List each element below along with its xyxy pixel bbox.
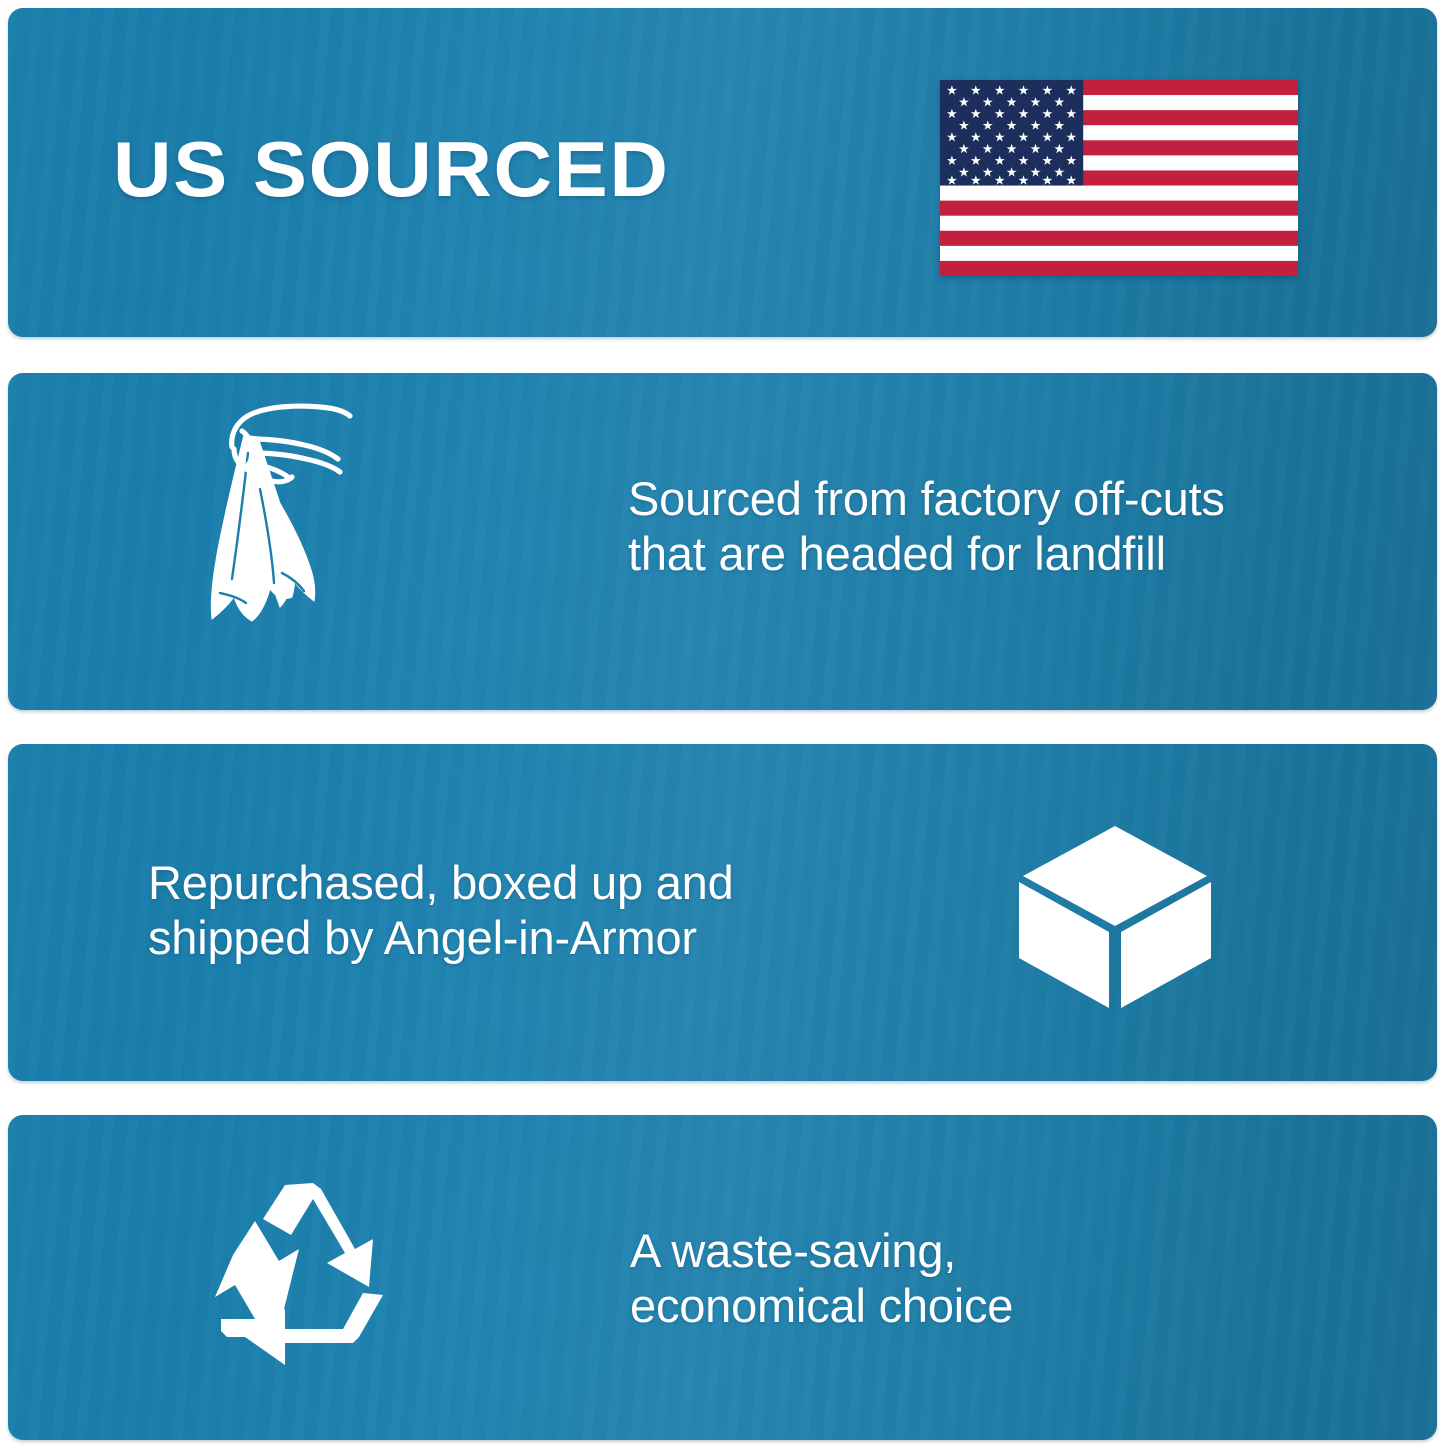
panel-3-line-1: Repurchased, boxed up and — [148, 855, 734, 910]
recycle-icon — [193, 1177, 405, 1379]
panel-waste-saving-economical: A waste-saving, economical choice — [8, 1115, 1437, 1440]
page-title: US SOURCED — [113, 130, 669, 208]
panel-factory-off-cuts: Sourced from factory off-cuts that are h… — [8, 373, 1437, 710]
us-flag-icon — [940, 80, 1298, 276]
panel-2-text: Sourced from factory off-cuts that are h… — [628, 471, 1225, 582]
panel-3-text: Repurchased, boxed up and shipped by Ang… — [148, 855, 734, 966]
panel-us-sourced: US SOURCED — [8, 8, 1437, 337]
panel-4-line-1: A waste-saving, — [630, 1223, 1013, 1278]
panel-repurchased-boxed-shipped: Repurchased, boxed up and shipped by Ang… — [8, 744, 1437, 1081]
panel-4-text: A waste-saving, economical choice — [630, 1223, 1013, 1334]
panel-2-line-1: Sourced from factory off-cuts — [628, 471, 1225, 526]
shipping-box-icon — [1015, 822, 1215, 1012]
panel-2-line-2: that are headed for landfill — [628, 526, 1225, 581]
infographic-sheet: US SOURCED — [0, 0, 1445, 1449]
panel-4-line-2: economical choice — [630, 1278, 1013, 1333]
hand-holding-cloth-icon — [204, 397, 384, 657]
panel-3-line-2: shipped by Angel-in-Armor — [148, 910, 734, 965]
